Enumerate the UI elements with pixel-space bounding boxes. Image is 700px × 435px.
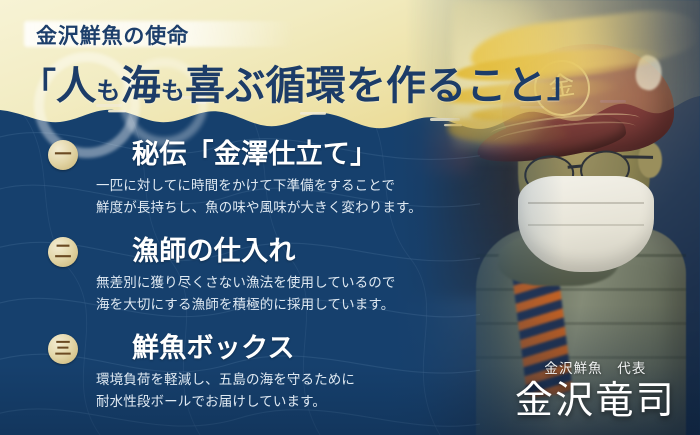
feature-title: 漁師の仕入れ	[132, 237, 430, 265]
feature-description-line-1: 無差別に獲り尽くさない漁法を使用しているので	[96, 272, 430, 294]
headline-part-3: も	[161, 79, 185, 105]
feature-list: 一 秘伝「金澤仕立て」 一匹に対してに時間をかけて下準備をすることで 鮮度が長持…	[0, 134, 430, 425]
mission-label: 金沢鮮魚の使命	[36, 20, 189, 50]
feature-description-line-2: 鮮度が長持ちし、魚の味や風味が大きく変わります。	[96, 197, 430, 219]
badge-number-one: 一	[48, 140, 78, 170]
feature-title: 秘伝「金澤仕立て」	[132, 140, 430, 168]
mission-banner: 金	[0, 0, 700, 435]
mission-headline: 「人も海も喜ぶ循環を作ること」	[22, 53, 581, 111]
feature-description-line-2: 海を大切にする漁師を積極的に採用しています。	[96, 294, 430, 316]
badge-number-two: 二	[48, 237, 78, 267]
feature-item: 二 漁師の仕入れ 無差別に獲り尽くさない漁法を使用しているので 海を大切にする漁…	[0, 237, 430, 316]
headline-part-2: 海	[121, 63, 161, 108]
badge-number-three: 三	[48, 334, 78, 364]
headline-part-0: 人	[56, 63, 96, 108]
headline-close-quote: 」	[547, 68, 581, 105]
headline-part-4: 喜ぶ循環を作ること	[185, 63, 547, 108]
signature-role: 金沢鮮魚 代表	[515, 357, 676, 377]
feature-description-line-2: 耐水性段ボールでお届けしています。	[96, 391, 430, 413]
mission-label-group: 金沢鮮魚の使命	[36, 20, 189, 50]
signature-name: 金沢竜司	[515, 381, 676, 421]
headline-part-1: も	[96, 79, 120, 105]
signature-block: 金沢鮮魚 代表 金沢竜司	[515, 357, 676, 421]
feature-item: 三 鮮魚ボックス 環境負荷を軽減し、五島の海を守るために 耐水性段ボールでお届け…	[0, 334, 430, 413]
feature-title: 鮮魚ボックス	[132, 334, 430, 362]
headline-open-quote: 「	[22, 68, 56, 105]
feature-description-line-1: 一匹に対してに時間をかけて下準備をすることで	[96, 175, 430, 197]
feature-description-line-1: 環境負荷を軽減し、五島の海を守るために	[96, 369, 430, 391]
feature-item: 一 秘伝「金澤仕立て」 一匹に対してに時間をかけて下準備をすることで 鮮度が長持…	[0, 140, 430, 219]
